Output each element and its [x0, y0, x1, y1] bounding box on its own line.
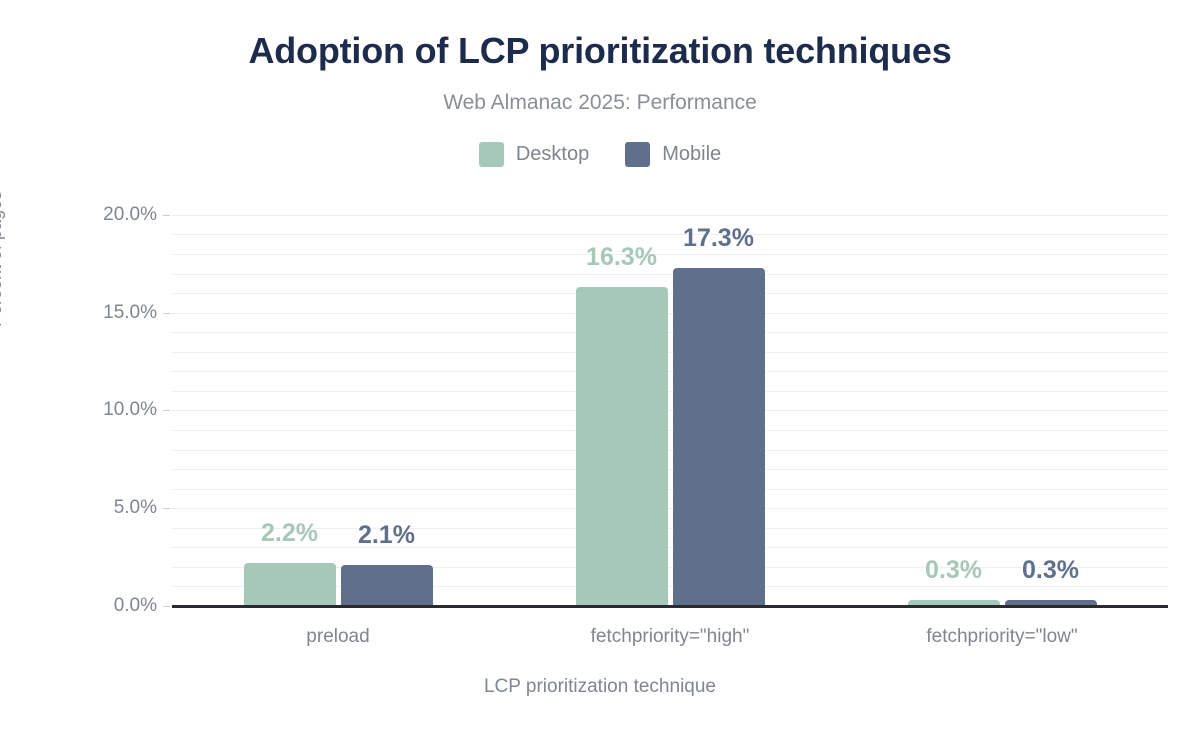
y-tick-mark: [163, 508, 170, 509]
y-tick-label: 10.0%: [47, 399, 157, 421]
y-tick-label: 5.0%: [47, 497, 157, 519]
legend-item-mobile[interactable]: Mobile: [625, 142, 721, 167]
chart-legend: Desktop Mobile: [0, 142, 1200, 167]
legend-item-desktop[interactable]: Desktop: [479, 142, 589, 167]
y-tick-label: 0.0%: [47, 595, 157, 617]
x-axis-baseline: [172, 605, 1168, 608]
legend-swatch-mobile-icon: [625, 142, 650, 167]
bar-value-label: 2.2%: [261, 519, 318, 548]
bar-value-label: 16.3%: [586, 243, 657, 272]
legend-label-mobile: Mobile: [662, 143, 721, 166]
bar-value-label: 2.1%: [358, 521, 415, 550]
plot-area: 2.2%2.1%16.3%17.3%0.3%0.3%: [172, 205, 1168, 606]
chart-figure: Adoption of LCP prioritization technique…: [0, 0, 1200, 742]
x-tick-label: fetchpriority="high": [591, 626, 750, 648]
y-tick-mark: [163, 215, 170, 216]
bar-value-label: 0.3%: [925, 556, 982, 585]
x-axis-title: LCP prioritization technique: [0, 676, 1200, 698]
chart-subtitle: Web Almanac 2025: Performance: [0, 91, 1200, 115]
bar-desktop[interactable]: [576, 287, 668, 606]
bar-mobile[interactable]: [341, 565, 433, 606]
legend-swatch-desktop-icon: [479, 142, 504, 167]
chart-title: Adoption of LCP prioritization technique…: [0, 30, 1200, 72]
bar-layer: 2.2%2.1%16.3%17.3%0.3%0.3%: [172, 205, 1168, 606]
y-tick-mark: [163, 313, 170, 314]
x-tick-label: preload: [306, 626, 369, 648]
bar-desktop[interactable]: [244, 563, 336, 606]
y-tick-mark: [163, 606, 170, 607]
x-tick-label: fetchpriority="low": [926, 626, 1077, 648]
legend-label-desktop: Desktop: [516, 143, 589, 166]
bar-value-label: 17.3%: [683, 224, 754, 253]
y-tick-label: 20.0%: [47, 204, 157, 226]
bar-value-label: 0.3%: [1022, 556, 1079, 585]
y-axis-title: Percent of pages: [0, 191, 6, 327]
y-tick-label: 15.0%: [47, 302, 157, 324]
bar-mobile[interactable]: [673, 268, 765, 606]
y-tick-mark: [163, 410, 170, 411]
